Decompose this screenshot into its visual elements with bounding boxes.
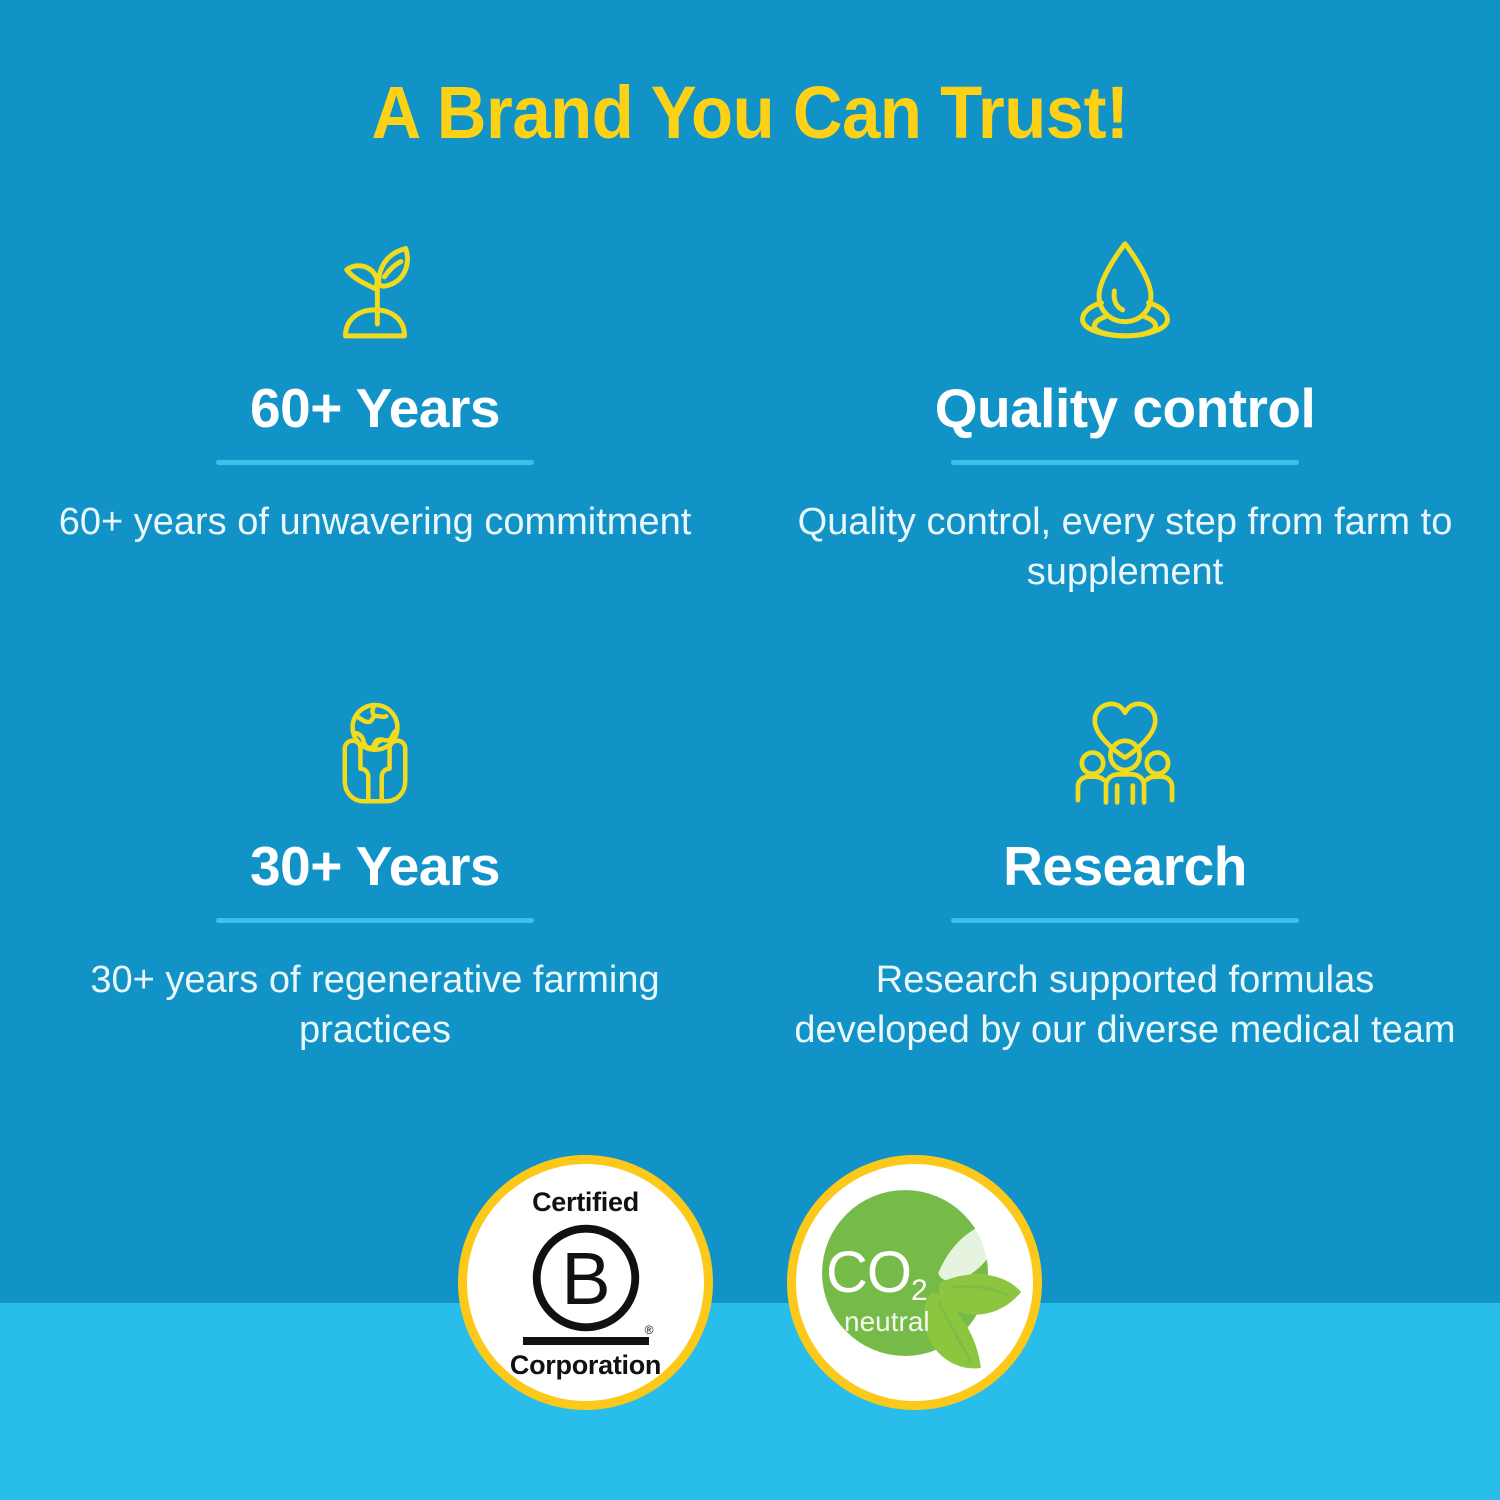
sprout-icon (316, 230, 434, 350)
feature-card-30-years: 30+ Years 30+ years of regenerative farm… (0, 688, 750, 1056)
certified-b-corporation-badge: Certified B ® Corporation (458, 1155, 713, 1410)
feature-divider (216, 918, 534, 923)
bcorp-rule (523, 1337, 649, 1345)
feature-title: 60+ Years (250, 380, 500, 438)
co2-neutral-badge: CO2 neutral (787, 1155, 1042, 1410)
promo-graphic: A Brand You Can Trust! 60+ Years 60+ yea… (0, 0, 1500, 1500)
feature-title: Quality control (935, 380, 1316, 438)
bcorp-top-label: Certified (532, 1189, 639, 1216)
feature-grid: 60+ Years 60+ years of unwavering commit… (0, 230, 1500, 1056)
people-heart-icon (1061, 688, 1189, 808)
svg-text:B: B (561, 1236, 610, 1319)
feature-body: Research supported formulas developed by… (785, 955, 1465, 1056)
feature-row-2: 30+ Years 30+ years of regenerative farm… (0, 688, 1500, 1056)
co2-label-group: CO2 neutral (826, 1244, 930, 1336)
certification-badges: Certified B ® Corporation (0, 1155, 1500, 1410)
feature-body: 60+ years of unwavering commitment (59, 497, 692, 548)
feature-title: Research (1003, 838, 1247, 896)
hands-holding-globe-icon (315, 688, 435, 808)
bcorp-bottom-label: Corporation (510, 1352, 661, 1379)
feature-divider (216, 460, 534, 465)
feature-divider (951, 918, 1299, 923)
feature-body: Quality control, every step from farm to… (785, 497, 1465, 598)
feature-card-quality-control: Quality control Quality control, every s… (750, 230, 1500, 598)
water-drop-icon (1065, 230, 1185, 350)
feature-divider (951, 460, 1299, 465)
feature-body: 30+ years of regenerative farming practi… (55, 955, 695, 1056)
registered-trademark-icon: ® (645, 1324, 654, 1336)
co2-neutral-label: neutral (844, 1308, 930, 1336)
feature-card-60-years: 60+ Years 60+ years of unwavering commit… (0, 230, 750, 598)
page-title: A Brand You Can Trust! (53, 76, 1448, 150)
co2-main-label: CO2 (826, 1244, 930, 1306)
feature-title: 30+ Years (250, 838, 500, 896)
co2-subscript: 2 (911, 1274, 927, 1307)
feature-row-1: 60+ Years 60+ years of unwavering commit… (0, 230, 1500, 598)
feature-card-research: Research Research supported formulas dev… (750, 688, 1500, 1056)
bcorp-letter-mark: B ® (530, 1222, 642, 1334)
